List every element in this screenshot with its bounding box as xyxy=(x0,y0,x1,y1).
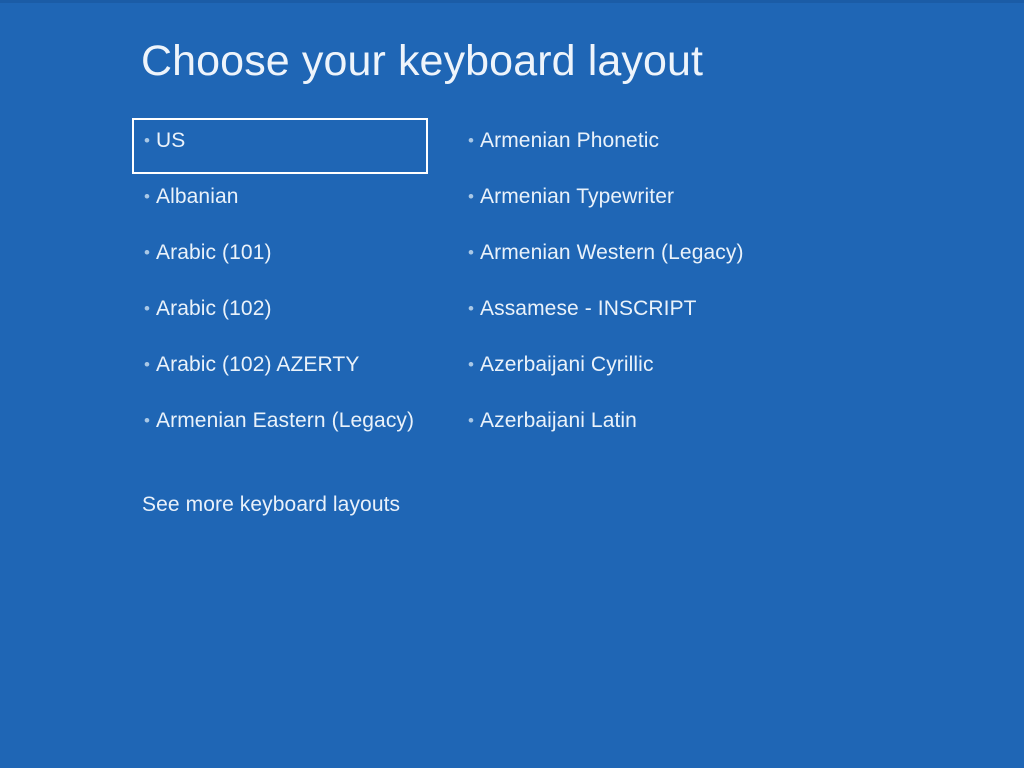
keyboard-layout-option-label: Azerbaijani Latin xyxy=(480,408,637,434)
bullet-icon: • xyxy=(144,184,156,210)
keyboard-layout-option[interactable]: •Albanian xyxy=(132,174,428,230)
keyboard-layout-option-label: Azerbaijani Cyrillic xyxy=(480,352,654,378)
keyboard-layout-option[interactable]: •US xyxy=(132,118,428,174)
keyboard-layout-option[interactable]: •Arabic (102) xyxy=(132,286,428,342)
bullet-icon: • xyxy=(144,408,156,434)
keyboard-layout-option-label: Arabic (102) AZERTY xyxy=(156,352,359,378)
keyboard-layout-column-left: •US•Albanian•Arabic (101)•Arabic (102)•A… xyxy=(132,118,428,454)
keyboard-layout-option-label: Assamese - INSCRIPT xyxy=(480,296,697,322)
keyboard-layout-option[interactable]: •Armenian Eastern (Legacy) xyxy=(132,398,428,454)
bullet-icon: • xyxy=(144,128,156,154)
keyboard-layout-option[interactable]: •Armenian Typewriter xyxy=(464,174,794,230)
keyboard-layout-option-label: Armenian Typewriter xyxy=(480,184,674,210)
keyboard-layout-option-label: Armenian Phonetic xyxy=(480,128,659,154)
see-more-keyboard-layouts-link[interactable]: See more keyboard layouts xyxy=(142,492,400,518)
keyboard-layout-option-label: Arabic (102) xyxy=(156,296,272,322)
keyboard-layout-option[interactable]: •Azerbaijani Latin xyxy=(464,398,794,454)
bullet-icon: • xyxy=(468,128,480,154)
keyboard-layout-option-label: US xyxy=(156,128,185,154)
keyboard-layout-option[interactable]: •Arabic (102) AZERTY xyxy=(132,342,428,398)
keyboard-layout-screen: Choose your keyboard layout •US•Albanian… xyxy=(0,0,1024,768)
bullet-icon: • xyxy=(468,352,480,378)
keyboard-layout-option-label: Armenian Eastern (Legacy) xyxy=(156,408,414,434)
bullet-icon: • xyxy=(468,240,480,266)
keyboard-layout-column-right: •Armenian Phonetic•Armenian Typewriter•A… xyxy=(464,118,794,454)
keyboard-layout-option[interactable]: •Azerbaijani Cyrillic xyxy=(464,342,794,398)
keyboard-layout-option[interactable]: •Armenian Phonetic xyxy=(464,118,794,174)
keyboard-layout-option-label: Arabic (101) xyxy=(156,240,272,266)
bullet-icon: • xyxy=(468,408,480,434)
bullet-icon: • xyxy=(144,296,156,322)
bullet-icon: • xyxy=(468,184,480,210)
keyboard-layout-option-label: Armenian Western (Legacy) xyxy=(480,240,744,266)
top-edge-band xyxy=(0,0,1024,3)
keyboard-layout-option[interactable]: •Arabic (101) xyxy=(132,230,428,286)
bullet-icon: • xyxy=(144,240,156,266)
keyboard-layout-option-label: Albanian xyxy=(156,184,239,210)
bullet-icon: • xyxy=(468,296,480,322)
page-title: Choose your keyboard layout xyxy=(141,38,703,85)
keyboard-layout-option[interactable]: •Assamese - INSCRIPT xyxy=(464,286,794,342)
keyboard-layout-option[interactable]: •Armenian Western (Legacy) xyxy=(464,230,794,286)
bullet-icon: • xyxy=(144,352,156,378)
